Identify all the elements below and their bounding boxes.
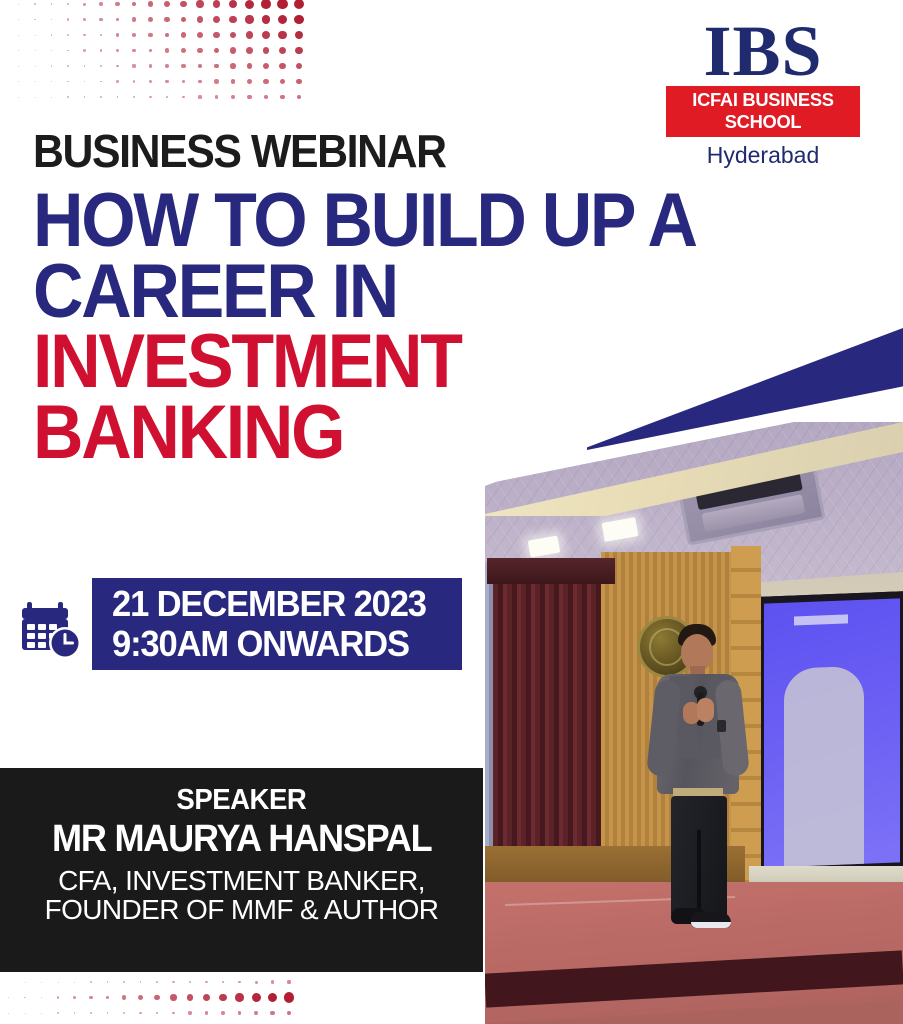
speaker-shadow xyxy=(784,666,864,868)
ibs-logo: IBS ICFAI BUSINESS SCHOOL Hyderabad xyxy=(665,18,861,169)
speaker-credentials: CFA, INVESTMENT BANKER, FOUNDER OF MMF &… xyxy=(0,867,483,924)
poster-kicker: BUSINESS WEBINAR xyxy=(33,128,446,174)
speaker-label: SPEAKER xyxy=(177,784,307,817)
logo-city: Hyderabad xyxy=(665,142,861,169)
dot-pattern-bottom-left xyxy=(0,982,292,1024)
headline-line-1: HOW TO BUILD UP A xyxy=(33,186,732,257)
curtain-pelmet xyxy=(487,558,615,584)
date-time-badge: 21 DECEMBER 2023 9:30AM ONWARDS xyxy=(92,578,462,670)
projection-screen xyxy=(757,591,903,875)
speaker-name: MR MAURYA HANSPAL xyxy=(52,818,431,861)
speaker-block: SPEAKER MR MAURYA HANSPAL CFA, INVESTMEN… xyxy=(0,768,483,972)
webinar-date: 21 DECEMBER 2023 xyxy=(112,584,448,624)
headline-line-2: CAREER IN xyxy=(33,257,732,328)
calendar-clock-icon xyxy=(20,598,84,662)
dot-pattern-top-left xyxy=(2,4,318,108)
screen-watermark xyxy=(794,614,848,625)
presenter-figure xyxy=(635,616,755,946)
webinar-time: 9:30AM ONWARDS xyxy=(112,624,448,664)
webinar-poster: IBS ICFAI BUSINESS SCHOOL Hyderabad BUSI… xyxy=(0,0,903,1024)
logo-mark: IBS xyxy=(665,18,861,84)
stage-curtain xyxy=(493,574,609,866)
logo-full-name: ICFAI BUSINESS SCHOOL xyxy=(666,86,860,137)
